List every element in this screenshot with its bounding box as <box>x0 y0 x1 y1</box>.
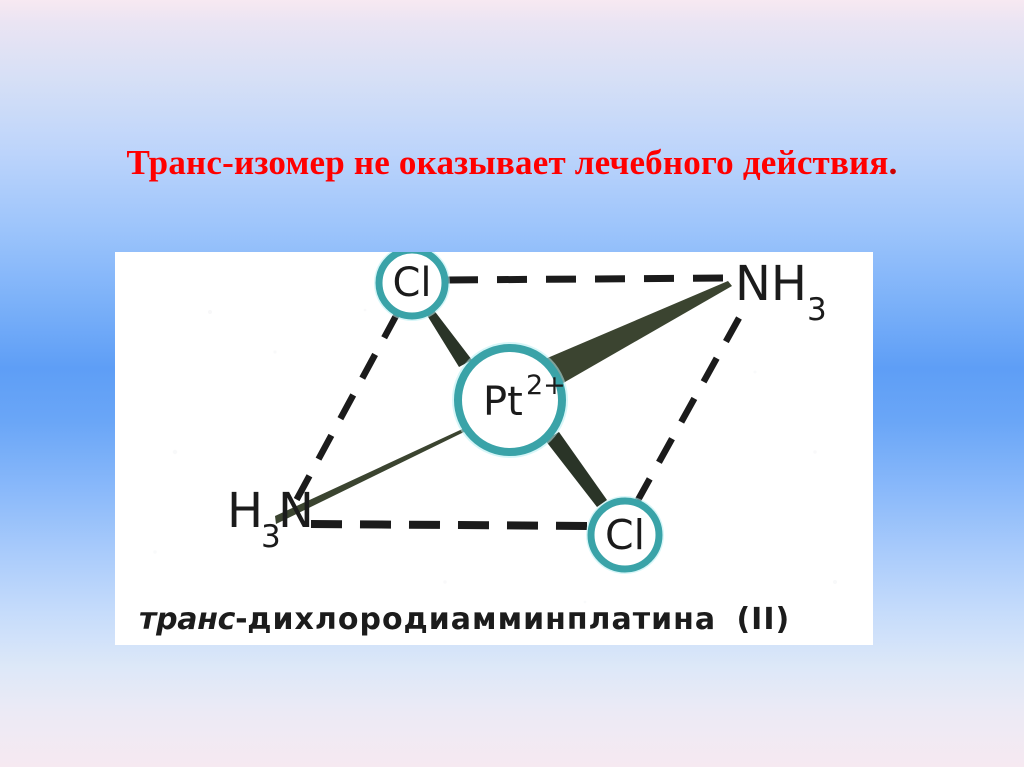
bond-nh3-to-cl-bottom <box>638 318 739 500</box>
node-cl-bottom: Cl <box>591 501 659 569</box>
molecular-structure-diagram: Cl Pt 2+ Cl NH 3 H <box>115 252 873 645</box>
node-nh3-right-subscript: 3 <box>807 292 827 328</box>
bond-cl-top-to-h3n <box>291 314 397 510</box>
caption-roman-part: дихлородиамминплатина <box>247 602 716 637</box>
figure-panel: Cl Pt 2+ Cl NH 3 H <box>115 252 873 645</box>
caption-separator: - <box>235 602 247 637</box>
node-nh3-right: NH 3 <box>735 256 827 328</box>
node-cl-top: Cl <box>379 252 445 316</box>
bond-h3n-to-cl-bottom <box>311 524 591 526</box>
page-title-period: . <box>889 143 898 182</box>
node-h3n-left-prelabel: H <box>227 483 263 539</box>
node-pt-center-superscript: 2+ <box>526 370 566 401</box>
node-h3n-left-label: N <box>278 483 314 539</box>
bond-pt-to-cl-top <box>425 309 472 367</box>
bond-cl-top-to-nh3 <box>448 278 725 280</box>
node-cl-bottom-label: Cl <box>605 511 645 559</box>
page-title: Транс-изомер не оказывает лечебного дейс… <box>0 142 1024 184</box>
page-title-text: Транс-изомер не оказывает лечебного дейс… <box>126 143 888 182</box>
caption-italic-part: транс <box>139 602 235 637</box>
node-h3n-left: H 3 N <box>227 483 314 555</box>
node-cl-top-label: Cl <box>392 260 431 306</box>
figure-caption: транс-дихлородиамминплатина (II) <box>139 602 790 637</box>
node-pt-center: Pt 2+ <box>458 348 566 452</box>
slide-canvas: Транс-изомер не оказывает лечебного дейс… <box>0 0 1024 767</box>
bond-pt-to-nh3 <box>545 281 732 386</box>
node-nh3-right-label: NH <box>735 256 807 312</box>
bond-pt-to-cl-bottom <box>545 432 607 507</box>
node-pt-center-label: Pt <box>483 379 523 425</box>
caption-oxidation-state: (II) <box>736 602 790 637</box>
